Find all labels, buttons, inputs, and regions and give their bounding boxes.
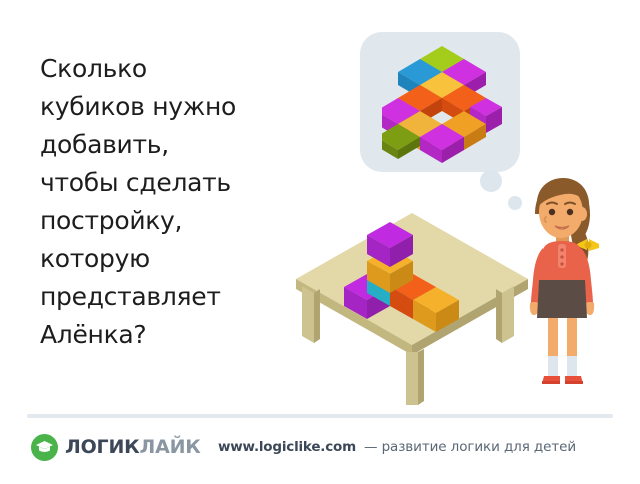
footer: ЛОГИКЛАЙК www.logiclike.com — развитие л… <box>0 424 640 484</box>
table-leg-left <box>302 286 320 343</box>
table-leg-front <box>406 349 424 405</box>
girl-shirt-button-1 <box>560 248 563 251</box>
girl-sock-right <box>567 356 577 376</box>
table-leg-right <box>496 286 514 343</box>
girl-sock-left <box>548 356 558 376</box>
table-with-cubes <box>288 195 536 410</box>
graduation-cap-icon <box>31 434 58 461</box>
slide-canvas: Сколько кубиков нужно добавить, чтобы сд… <box>0 0 640 484</box>
brand-logo-text-primary: ЛОГИК <box>65 436 139 458</box>
brand-logo-text-secondary: ЛАЙК <box>139 436 200 458</box>
footer-divider <box>27 414 613 418</box>
footer-site-url[interactable]: www.logiclike.com <box>218 439 356 455</box>
girl-leg-left <box>548 318 558 360</box>
imagined-cube-structure <box>382 38 502 163</box>
girl-eye-right <box>567 209 573 215</box>
girl-eye-left <box>549 209 555 215</box>
girl-character-alenka <box>515 170 611 388</box>
question-text: Сколько кубиков нужно добавить, чтобы сд… <box>40 50 330 354</box>
girl-shoe-sole-left <box>542 381 560 384</box>
girl-shirt-button-2 <box>560 255 563 258</box>
footer-tagline: — развитие логики для детей <box>364 439 576 455</box>
girl-ear <box>577 207 587 221</box>
thought-bubble-dot-large <box>480 170 502 192</box>
girl-shirt-button-3 <box>560 262 563 265</box>
brand-logo[interactable]: ЛОГИКЛАЙК <box>31 434 201 461</box>
girl-shoe-sole-right <box>565 381 583 384</box>
brand-logo-text: ЛОГИКЛАЙК <box>65 438 201 457</box>
girl-leg-right <box>567 318 577 360</box>
girl-skirt <box>537 280 587 318</box>
